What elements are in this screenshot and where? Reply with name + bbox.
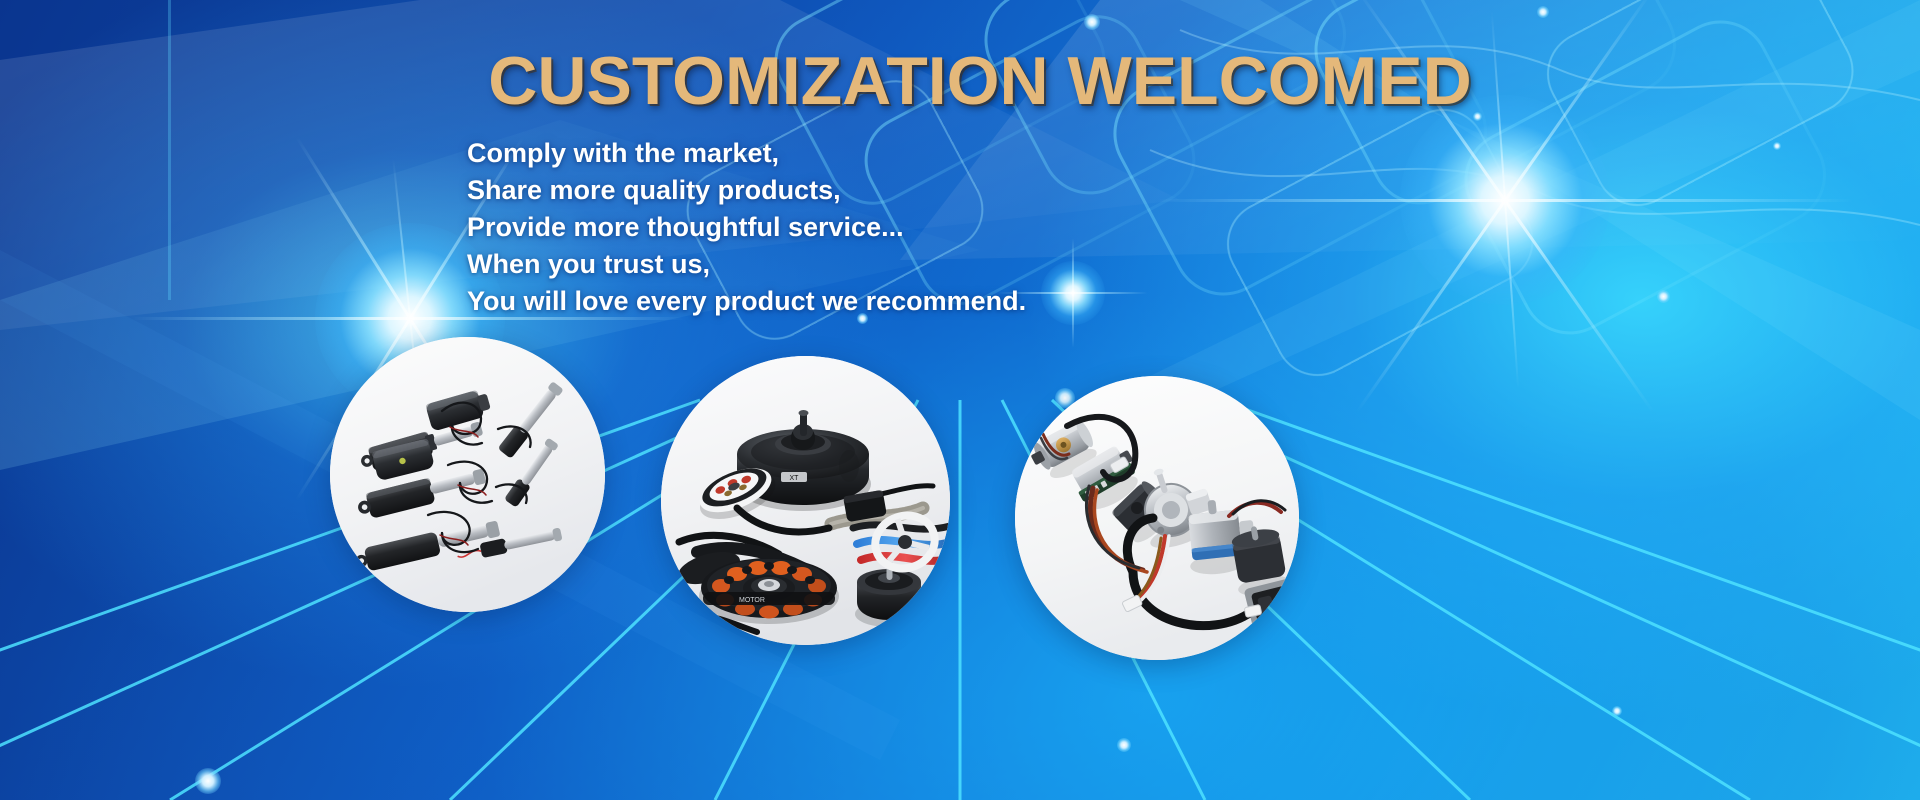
svg-text:XT: XT: [790, 475, 800, 482]
stepper-motors-photo: [1015, 376, 1299, 660]
svg-text:MOTOR: MOTOR: [739, 597, 765, 604]
tagline-line-2: Share more quality products,: [467, 172, 1026, 209]
tagline-line-3: Provide more thoughtful service...: [467, 209, 1026, 246]
linear-actuators-photo: [330, 337, 605, 612]
banner-content: CUSTOMIZATION WELCOMED Comply with the m…: [0, 0, 1920, 800]
product-circle-brushless-motors[interactable]: XT: [661, 356, 950, 645]
product-circle-stepper-motors[interactable]: [1015, 376, 1299, 660]
promo-banner: CUSTOMIZATION WELCOMED Comply with the m…: [0, 0, 1920, 800]
tagline-line-5: You will love every product we recommend…: [467, 283, 1026, 320]
tagline-line-4: When you trust us,: [467, 246, 1026, 283]
tagline-block: Comply with the market, Share more quali…: [467, 135, 1026, 320]
page-title: CUSTOMIZATION WELCOMED: [0, 46, 1920, 117]
tagline-line-1: Comply with the market,: [467, 135, 1026, 172]
brushless-motors-photo: XT: [661, 356, 950, 645]
product-circle-linear-actuators[interactable]: [330, 337, 605, 612]
